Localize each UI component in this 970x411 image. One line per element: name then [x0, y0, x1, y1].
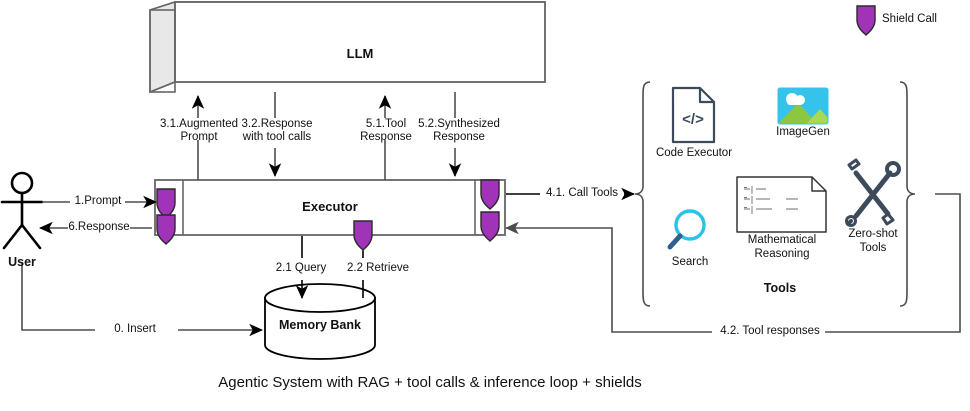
wrench-screwdriver-icon [847, 160, 900, 226]
tools-bracket-left [635, 82, 650, 306]
llm-label: LLM [255, 47, 465, 60]
tool-label-code-executor: Code Executor [648, 147, 740, 161]
shield-icon-legend [857, 6, 875, 35]
diagram-canvas: </> [0, 0, 970, 411]
svg-text:</>: </> [682, 111, 704, 128]
tool-label-imagegen: ImageGen [762, 126, 844, 140]
edge-label-retrieve: 2.2 Retrieve [332, 262, 424, 275]
tools-bracket-right [900, 82, 915, 306]
edge-label-tool-responses: 4.2. Tool responses [710, 325, 830, 338]
edge-label-response-tool-calls: 3.2.Response with tool calls [222, 118, 332, 144]
tool-label-zero-shot-tools: Zero-shot Tools [838, 228, 908, 255]
image-icon [778, 88, 828, 124]
edge-label-query: 2.1 Query [262, 262, 340, 275]
edge-label-prompt: 1.Prompt [62, 195, 134, 208]
edge-label-synthesized-response: 5.2.Synthesized Response [400, 118, 518, 144]
edge-label-response: 6.Response [60, 221, 138, 234]
shield-icon-retrieve [354, 221, 372, 250]
diagram-svg: </> [0, 0, 970, 411]
shield-icon-tool-responses [481, 212, 499, 241]
tool-label-search: Search [660, 256, 720, 270]
edge-insert-left [22, 262, 95, 330]
code-document-icon: </> [673, 88, 714, 142]
magnifier-icon [670, 211, 704, 247]
shield-icon-response [157, 215, 175, 244]
edge-label-insert: 0. Insert [90, 323, 180, 336]
edge-tool-responses [506, 194, 960, 332]
math-document-icon [737, 177, 826, 232]
edge-label-call-tools: 4.1. Call Tools [536, 187, 628, 200]
legend-shield-label: Shield Call [882, 13, 970, 26]
tools-group-label: Tools [725, 282, 835, 295]
user-actor-icon [2, 173, 42, 248]
executor-label: Executor [250, 200, 410, 213]
user-label: User [0, 256, 52, 269]
tool-label-math-reasoning: Mathematical Reasoning [738, 234, 826, 261]
diagram-caption: Agentic System with RAG + tool calls & i… [0, 374, 860, 391]
memory-bank-label: Memory Bank [255, 319, 385, 332]
